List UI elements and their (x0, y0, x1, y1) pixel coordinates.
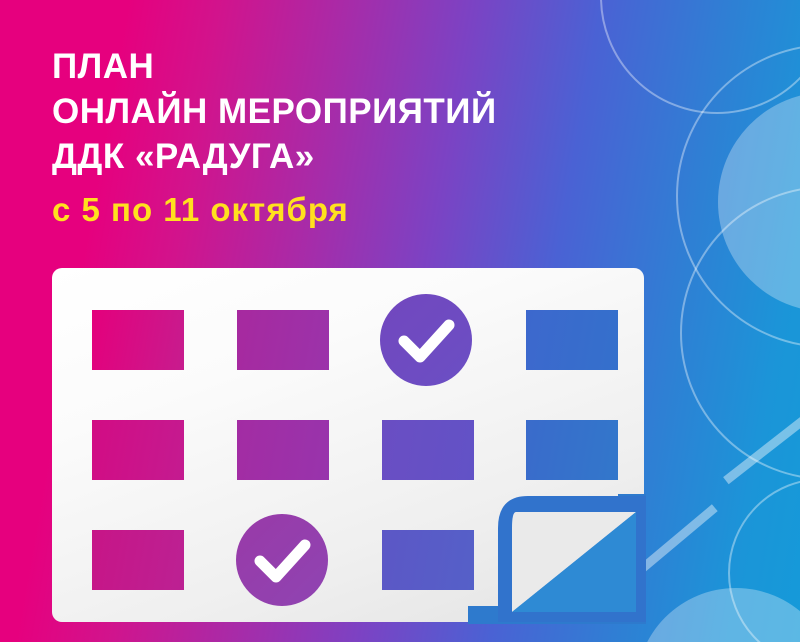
calendar-row (92, 306, 600, 374)
decorative-ring-middle (676, 44, 800, 348)
calendar-cell (382, 530, 474, 590)
calendar-cell (382, 420, 474, 480)
calendar-row (92, 416, 600, 484)
calendar-check-circle (380, 294, 472, 386)
headline-block: ПЛАН ОНЛАЙН МЕРОПРИЯТИЙ ДДК «РАДУГА» с 5… (52, 44, 692, 233)
decorative-disc-right (718, 92, 800, 312)
calendar-check-circle (236, 514, 328, 606)
decorative-disc-bottom (636, 588, 800, 642)
calendar-illustration (52, 268, 644, 622)
calendar-cell (92, 420, 184, 480)
headline-line-1: ПЛАН (52, 44, 692, 89)
decorative-ring-lower (680, 186, 800, 480)
page-fold-corner (468, 494, 646, 624)
headline-line-2: ОНЛАЙН МЕРОПРИЯТИЙ (52, 89, 692, 134)
calendar-cell (526, 420, 618, 480)
calendar-cell (92, 530, 184, 590)
decorative-stripe-upper (723, 385, 800, 484)
check-icon (236, 514, 328, 606)
headline-line-3: ДДК «РАДУГА» (52, 134, 692, 179)
calendar-cell (92, 310, 184, 370)
headline-date-range: с 5 по 11 октября (52, 187, 692, 233)
calendar-cell (237, 310, 329, 370)
calendar-cell (526, 310, 618, 370)
calendar-cell (237, 420, 329, 480)
poster-canvas: ПЛАН ОНЛАЙН МЕРОПРИЯТИЙ ДДК «РАДУГА» с 5… (0, 0, 800, 642)
check-icon (380, 294, 472, 386)
decorative-ring-bottom (728, 478, 800, 642)
